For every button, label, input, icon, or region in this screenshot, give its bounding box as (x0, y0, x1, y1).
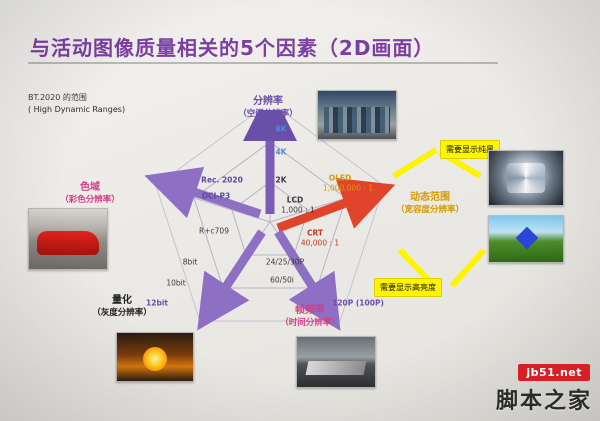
callout-brightness: 需要显示高亮度 (374, 278, 442, 297)
tick-resolution-4k: 4K (275, 148, 286, 157)
axis-label-quantization: 量化 （灰度分辨率） (92, 295, 152, 319)
axis-label-gamut: 色域 （彩色分辨率） (60, 182, 120, 206)
tick-quant-10bit: 10bit (166, 279, 185, 288)
tick-gamut-rec709: R+c709 (199, 227, 229, 236)
sunset-photo (116, 332, 194, 382)
tick-dynamic-oled: OLED (329, 174, 352, 183)
tick-framerate-60i: 60/50i (270, 276, 294, 285)
tick-dynamic-lcd: LCD (287, 196, 304, 205)
tick-quant-12bit: 12bit (146, 299, 168, 308)
green-field-photo (488, 215, 564, 263)
city-night-photo (317, 90, 397, 140)
tick-dynamic-crt: CRT (307, 229, 323, 238)
diamond-photo (488, 150, 564, 206)
axis-label-resolution: 分辨率 （空间分辨率） (238, 96, 298, 120)
tick-gamut-dcip3: DCI-P3 (202, 192, 230, 201)
tick-dynamic-crt-ratio: 40,000 : 1 (301, 239, 339, 248)
watermark-text: 脚本之家 (496, 383, 592, 415)
axis-label-framerate: 帧频率 （时间分辨率） (280, 305, 340, 329)
watermark-badge: jb51.net (518, 364, 590, 381)
bt2020-note: BT.2020 的范围 ( High Dynamic Ranges) (28, 92, 125, 116)
red-sportscar-photo (28, 208, 108, 270)
axis-arrow-quantization (212, 232, 262, 308)
title-divider (28, 62, 498, 64)
page-title: 与活动图像质量相关的5个因素（2D画面） (30, 32, 434, 61)
tick-resolution-2k: 2K (275, 176, 286, 185)
tick-resolution-8k: 8K (275, 125, 286, 134)
axis-label-dynamic-range: 动态范围 （宽容度分辨率） (396, 192, 464, 216)
bt2020-note-line1: BT.2020 的范围 (28, 92, 125, 104)
bt2020-note-line2: ( High Dynamic Ranges) (28, 104, 125, 116)
tick-gamut-rec2020: Rec. 2020 (201, 176, 243, 185)
motorsport-photo (296, 336, 376, 388)
slide-canvas: 与活动图像质量相关的5个因素（2D画面） BT.2020 的范围 ( High … (0, 0, 600, 421)
tick-framerate-30p: 24/25/30P (266, 258, 304, 267)
tick-framerate-120p: 120P (100P) (332, 299, 384, 308)
tick-dynamic-oled-ratio: 1,000,000 : 1 (323, 184, 373, 193)
tick-quant-8bit: 8bit (183, 258, 198, 267)
tick-dynamic-lcd-ratio: 1,000 : 1 (281, 206, 315, 215)
